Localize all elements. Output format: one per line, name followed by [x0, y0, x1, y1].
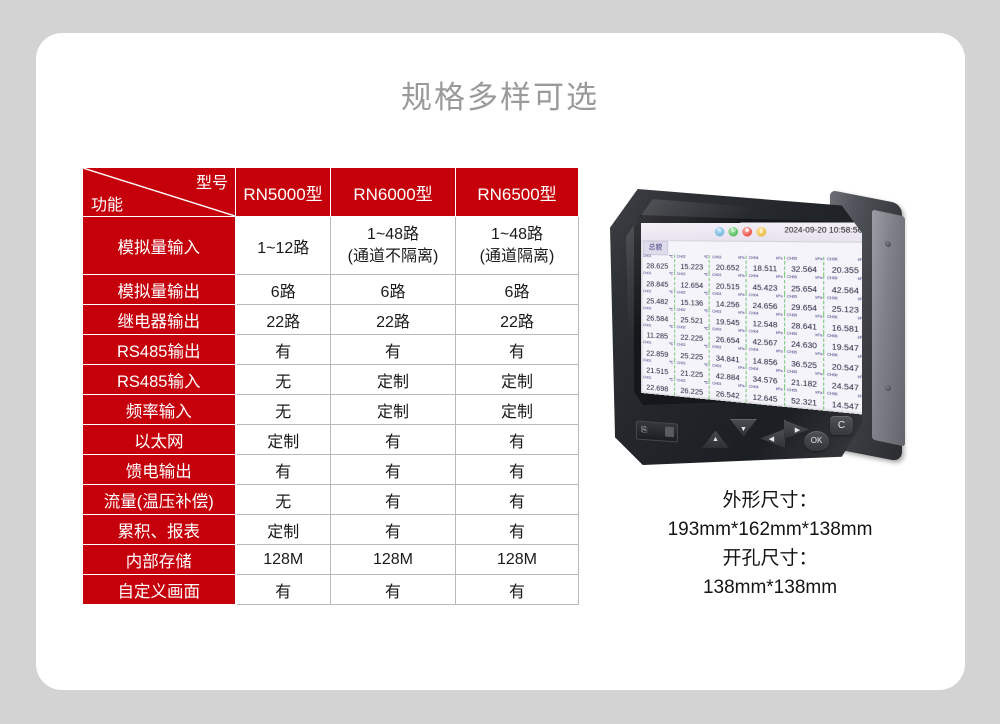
outline-size-label: 外形尺寸：	[600, 487, 940, 516]
channel-label: CH02	[677, 272, 686, 276]
channel-cell: CH02℃25.521	[675, 307, 710, 327]
spec-table-row: 累积、报表定制有有	[83, 515, 579, 545]
channel-label: CH02	[677, 343, 686, 348]
channel-cell: CH01℃25.482	[641, 289, 675, 308]
spec-value-cell: 22路	[236, 305, 331, 335]
channel-label: CH02	[677, 361, 686, 366]
spec-value-cell: 有	[456, 485, 579, 515]
channel-label: CH01	[643, 375, 651, 380]
channel-cell: CH02℃22.225	[675, 325, 710, 345]
channel-value: 29.654	[785, 302, 824, 314]
channel-value: 45.423	[747, 282, 784, 293]
channel-label: CH02	[677, 255, 686, 259]
spec-value-cell: 6路	[456, 275, 579, 305]
channel-unit: kPa	[815, 371, 822, 376]
channel-label: CH01	[643, 323, 651, 328]
channel-value: 25.482	[641, 296, 674, 306]
display-icon-row: ✎ ↻ ✹ ⚷	[715, 227, 766, 237]
spec-value-cell: 6路	[236, 275, 331, 305]
channel-unit: ℃	[704, 255, 708, 259]
channel-cell: CH03kPa20.515	[710, 273, 747, 292]
spec-value-cell: 128M	[456, 545, 579, 575]
screw-icon	[885, 240, 891, 247]
spec-feature-label: 继电器输出	[83, 305, 236, 335]
spec-value-cell: 有	[331, 455, 456, 485]
channel-value: 20.355	[825, 265, 867, 276]
spec-value-line: (通道不隔离)	[331, 246, 455, 267]
channel-label: CH03	[712, 327, 721, 332]
spec-value-cell: 有	[331, 335, 456, 365]
channel-unit: kPa	[815, 314, 822, 319]
channel-cell: CH06kPa25.123	[825, 295, 867, 316]
channel-unit: kPa	[738, 347, 744, 352]
column-header-rn6000: RN6000型	[331, 168, 456, 217]
spec-feature-label: 累积、报表	[83, 515, 236, 545]
channel-unit: ℃	[704, 327, 708, 331]
channel-label: CH06	[827, 257, 837, 262]
spec-value-cell: 有	[236, 575, 331, 605]
key-icon[interactable]: ⚷	[756, 227, 766, 237]
channel-unit: kPa	[815, 333, 822, 338]
spec-table-row: 流量(温压补偿)无有有	[83, 485, 579, 515]
spec-value-cell: 22路	[331, 305, 456, 335]
spec-value-cell: 有	[456, 575, 579, 605]
spec-value-cell: 1~48路(通道不隔离)	[331, 217, 456, 275]
channel-label: CH05	[787, 369, 797, 374]
spec-feature-label: 频率输入	[83, 395, 236, 425]
spec-value-cell: 有	[331, 515, 456, 545]
device-photo: ✎ ↻ ✹ ⚷ 2024-09-20 10:58:56 总貌 CH01℃28.6…	[598, 183, 928, 473]
spec-value-cell: 有	[456, 455, 579, 485]
channel-label: CH02	[677, 308, 686, 313]
channel-unit: kPa	[815, 390, 822, 395]
channel-unit: kPa	[776, 368, 783, 373]
dimension-info: 外形尺寸： 193mm*162mm*138mm 开孔尺寸： 138mm*138m…	[600, 487, 940, 603]
channel-label: CH01	[643, 306, 651, 310]
channel-unit: ℃	[704, 381, 708, 385]
channel-label: CH03	[712, 291, 721, 296]
spec-value-cell: 定制	[236, 425, 331, 455]
channel-unit: kPa	[776, 331, 783, 336]
spec-value-line: (通道隔离)	[456, 246, 578, 267]
channel-value: 42.564	[825, 284, 867, 295]
channel-unit: ℃	[669, 360, 673, 364]
channel-label: CH05	[787, 313, 797, 318]
up-button[interactable]: ▲	[702, 429, 729, 448]
channel-unit: kPa	[776, 256, 783, 260]
channel-unit: kPa	[738, 274, 744, 278]
channel-cell: CH02℃15.136	[675, 290, 710, 309]
spec-value-multiline: 1~48路(通道隔离)	[456, 224, 578, 266]
device-keypad: ⎘ ▲ ▼ ◀ ▶ OK C	[632, 411, 862, 459]
cutout-size-value: 138mm*138mm	[600, 574, 940, 603]
channel-unit: kPa	[815, 352, 822, 357]
header-model-label: 型号	[196, 169, 228, 193]
channel-cell: CH03kPa19.545	[710, 309, 747, 329]
header-function-label: 功能	[91, 191, 123, 215]
channel-value: 32.564	[785, 264, 824, 275]
channel-value: 24.656	[747, 300, 784, 311]
channel-cell: CH04kPa18.511	[747, 256, 785, 275]
spec-value-multiline: 1~48路(通道不隔离)	[331, 224, 455, 266]
channel-cell: CH06kPa20.355	[825, 257, 867, 277]
spec-value-cell: 定制	[456, 395, 579, 425]
channel-label: CH02	[677, 378, 686, 383]
channel-unit: kPa	[738, 329, 744, 334]
channel-label: CH04	[749, 329, 759, 334]
display-status-bar: ✎ ↻ ✹ ⚷ 2024-09-20 10:58:56	[641, 222, 866, 242]
channel-label: CH06	[827, 391, 837, 396]
channel-unit: kPa	[738, 256, 744, 260]
spec-table-row: 频率输入无定制定制	[83, 395, 579, 425]
channel-value: 22.698	[641, 382, 674, 394]
channel-label: CH02	[677, 325, 686, 330]
channel-label: CH01	[643, 254, 651, 258]
channel-value: 25.123	[825, 303, 867, 315]
channel-unit: kPa	[738, 310, 744, 315]
spec-value-cell: 无	[236, 365, 331, 395]
usb-slot	[665, 427, 674, 438]
channel-label: CH06	[827, 295, 837, 300]
channel-unit: ℃	[704, 309, 708, 313]
channel-cell: CH03kPa20.652	[710, 255, 747, 274]
channel-cell: CH06kPa42.564	[825, 276, 867, 297]
channel-value: 26.584	[641, 313, 674, 324]
channel-label: CH03	[712, 309, 721, 314]
spec-feature-label: 馈电输出	[83, 455, 236, 485]
channel-unit: kPa	[776, 293, 783, 298]
alarm-icon[interactable]: ✹	[742, 227, 752, 237]
channel-cell: CH05kPa29.654	[785, 294, 825, 315]
channel-label: CH06	[827, 334, 837, 339]
channel-cell: CH02℃15.223	[675, 255, 710, 274]
channel-label: CH05	[787, 294, 797, 299]
device-front-bezel: ✎ ↻ ✹ ⚷ 2024-09-20 10:58:56 总貌 CH01℃28.6…	[610, 189, 862, 465]
spec-feature-label: 模拟量输入	[83, 217, 236, 275]
channel-label: CH04	[749, 366, 759, 371]
outline-size-value: 193mm*162mm*138mm	[600, 516, 940, 545]
channel-unit: ℃	[704, 291, 708, 295]
channel-cell: CH03kPa26.542	[710, 381, 747, 403]
channel-value: 15.136	[675, 297, 709, 308]
channel-cell: CH04kPa24.656	[747, 292, 785, 312]
spec-value-cell: 6路	[331, 275, 456, 305]
spec-value-cell: 无	[236, 395, 331, 425]
channel-label: CH04	[749, 274, 759, 279]
spec-table-row: 模拟量输入1~12路1~48路(通道不隔离)1~48路(通道隔离)	[83, 217, 579, 275]
spec-value-cell: 定制	[331, 395, 456, 425]
channel-label: CH04	[749, 311, 759, 316]
channel-label: CH06	[827, 353, 837, 358]
column-header-rn5000: RN5000型	[236, 168, 331, 217]
channel-value: 25.654	[785, 283, 824, 294]
spec-value-cell: 有	[236, 455, 331, 485]
channel-label: CH01	[643, 358, 651, 363]
channel-cell: CH01℃28.625	[641, 254, 675, 272]
channel-value: 14.256	[710, 299, 746, 310]
channel-unit: ℃	[669, 325, 673, 329]
channel-label: CH05	[787, 388, 797, 393]
channel-cell: CH05kPa28.641	[785, 313, 825, 334]
channel-unit: kPa	[776, 387, 783, 392]
spec-value-line: 1~48路	[456, 224, 578, 245]
channel-label: CH03	[712, 273, 721, 277]
channel-value: 15.223	[675, 262, 709, 272]
spec-value-cell: 有	[456, 425, 579, 455]
channel-cell: CH04kPa45.423	[747, 274, 785, 294]
channel-unit: ℃	[669, 290, 673, 294]
product-spec-page: 规格多样可选 型号 功能 RN5000型 R	[0, 0, 1000, 724]
pen-icon[interactable]: ✎	[715, 227, 724, 236]
channel-cell: CH06kPa16.581	[825, 314, 867, 336]
channel-cell: CH03kPa14.256	[710, 291, 747, 311]
screw-icon	[885, 384, 891, 391]
channel-unit: ℃	[669, 307, 673, 311]
spec-feature-label: 内部存储	[83, 545, 236, 575]
channel-value: 26.542	[710, 389, 746, 402]
channel-value: 28.625	[641, 261, 674, 271]
channel-value: 28.641	[785, 320, 824, 332]
usb-glyph-icon: ⎘	[641, 425, 647, 435]
channel-label: CH03	[712, 381, 721, 386]
channel-label: CH03	[712, 363, 721, 368]
channel-cell: CH03kPa26.654	[710, 327, 747, 347]
channel-value: 20.652	[710, 263, 746, 273]
channel-label: CH03	[712, 345, 721, 350]
channel-unit: kPa	[738, 292, 744, 296]
channel-unit: kPa	[815, 295, 822, 300]
channel-label: CH04	[749, 292, 759, 297]
channel-unit: kPa	[738, 384, 744, 389]
channel-value: 52.321	[785, 395, 824, 408]
channel-cell: CH01℃11.285	[641, 323, 675, 343]
down-button[interactable]: ▼	[730, 419, 757, 438]
channel-cell: CH05kPa32.564	[785, 256, 825, 276]
channel-cell: CH05kPa52.321	[785, 388, 825, 411]
channel-unit: kPa	[815, 257, 822, 262]
channel-value: 25.521	[675, 315, 709, 326]
spec-table-row: 内部存储128M128M128M	[83, 545, 579, 575]
channel-label: CH04	[749, 256, 759, 260]
cancel-button[interactable]: C	[830, 416, 853, 435]
refresh-icon[interactable]: ↻	[728, 227, 738, 237]
channel-label: CH06	[827, 276, 837, 281]
channel-label: CH05	[787, 331, 797, 336]
display-timestamp: 2024-09-20 10:58:56	[784, 225, 862, 235]
usb-port-icon[interactable]: ⎘	[636, 421, 678, 443]
spec-table-row: 自定义画面有有有	[83, 575, 579, 605]
ok-button[interactable]: OK	[804, 431, 829, 451]
channel-cell: CH02℃26.225	[675, 378, 710, 399]
spec-table-row: RS485输出有有有	[83, 335, 579, 365]
spec-feature-label: RS485输入	[83, 365, 236, 395]
header-corner-cell: 型号 功能	[83, 168, 236, 217]
spec-feature-label: 模拟量输出	[83, 275, 236, 305]
left-button[interactable]: ◀	[758, 429, 785, 448]
channel-label: CH01	[643, 341, 651, 346]
channel-unit: ℃	[669, 342, 673, 346]
spec-value-cell: 有	[236, 335, 331, 365]
device-display: ✎ ↻ ✹ ⚷ 2024-09-20 10:58:56 总貌 CH01℃28.6…	[641, 222, 866, 415]
spec-feature-label: RS485输出	[83, 335, 236, 365]
spec-table-header-row: 型号 功能 RN5000型 RN6000型 RN6500型	[83, 168, 579, 217]
channel-label: CH06	[827, 372, 837, 377]
spec-value-cell: 1~48路(通道隔离)	[456, 217, 579, 275]
channel-cell: CH04kPa12.548	[747, 311, 785, 332]
channel-unit: kPa	[776, 275, 783, 280]
spec-table-row: RS485输入无定制定制	[83, 365, 579, 395]
channel-unit: kPa	[738, 365, 744, 370]
spec-feature-label: 流量(温压补偿)	[83, 485, 236, 515]
channel-label: CH02	[677, 290, 686, 294]
spec-feature-label: 自定义画面	[83, 575, 236, 605]
channel-value: 26.225	[675, 385, 709, 397]
spec-value-cell: 128M	[331, 545, 456, 575]
spec-comparison-table: 型号 功能 RN5000型 RN6000型 RN6500型 模拟量输入1~12路…	[82, 167, 579, 605]
channel-unit: ℃	[669, 272, 673, 276]
spec-feature-label: 以太网	[83, 425, 236, 455]
spec-table-row: 继电器输出22路22路22路	[83, 305, 579, 335]
channel-unit: kPa	[776, 312, 783, 317]
spec-value-cell: 有	[331, 425, 456, 455]
channel-label: CH01	[643, 271, 651, 275]
channel-cell: CH01℃22.698	[641, 375, 675, 396]
spec-value-cell: 定制	[456, 365, 579, 395]
channel-unit: kPa	[815, 276, 822, 281]
spec-value-cell: 128M	[236, 545, 331, 575]
channel-label: CH03	[712, 255, 721, 259]
channel-cell: CH05kPa25.654	[785, 275, 825, 295]
spec-value-cell: 22路	[456, 305, 579, 335]
channel-cell: CH02℃12.654	[675, 272, 710, 291]
channel-unit: ℃	[704, 345, 708, 349]
channel-cell: CH01℃26.584	[641, 306, 675, 325]
channel-label: CH04	[749, 348, 759, 353]
spec-table-row: 模拟量输出6路6路6路	[83, 275, 579, 305]
device-rear-panel	[872, 209, 905, 446]
spec-table-body: 型号 功能 RN5000型 RN6000型 RN6500型 模拟量输入1~12路…	[83, 168, 579, 605]
channel-value: 12.654	[675, 280, 709, 290]
channel-label: CH06	[827, 314, 837, 319]
spec-value-cell: 定制	[331, 365, 456, 395]
spec-value-cell: 无	[236, 485, 331, 515]
channel-label: CH01	[643, 289, 651, 293]
channel-value: 18.511	[747, 263, 784, 273]
spec-value-cell: 定制	[236, 515, 331, 545]
column-header-rn6500: RN6500型	[456, 168, 579, 217]
channel-unit: kPa	[776, 349, 783, 354]
channel-value: 19.545	[710, 317, 746, 328]
channel-unit: ℃	[669, 378, 673, 382]
channel-label: CH04	[749, 384, 759, 389]
channel-value-grid: CH01℃28.625CH02℃15.223CH03kPa20.652CH04k…	[641, 254, 866, 415]
spec-value-cell: 有	[331, 485, 456, 515]
channel-unit: ℃	[704, 363, 708, 367]
channel-label: CH05	[787, 275, 797, 280]
spec-value-cell: 有	[456, 335, 579, 365]
page-title: 规格多样可选	[0, 72, 1000, 117]
channel-cell: CH04kPa12.645	[747, 384, 785, 406]
cutout-size-label: 开孔尺寸：	[600, 545, 940, 574]
channel-value: 20.515	[710, 281, 746, 292]
channel-value: 12.645	[747, 392, 784, 405]
channel-value: 28.845	[641, 279, 674, 289]
spec-value-line: 1~48路	[331, 224, 455, 245]
spec-value-cell: 1~12路	[236, 217, 331, 275]
channel-unit: ℃	[669, 254, 673, 258]
channel-unit: ℃	[704, 273, 708, 277]
spec-value-cell: 有	[456, 515, 579, 545]
channel-label: CH05	[787, 256, 797, 261]
channel-value: 12.548	[747, 319, 784, 331]
spec-table-row: 馈电输出有有有	[83, 455, 579, 485]
channel-cell: CH01℃28.845	[641, 271, 675, 290]
channel-label: CH05	[787, 350, 797, 355]
spec-table-row: 以太网定制有有	[83, 425, 579, 455]
spec-value-cell: 有	[331, 575, 456, 605]
